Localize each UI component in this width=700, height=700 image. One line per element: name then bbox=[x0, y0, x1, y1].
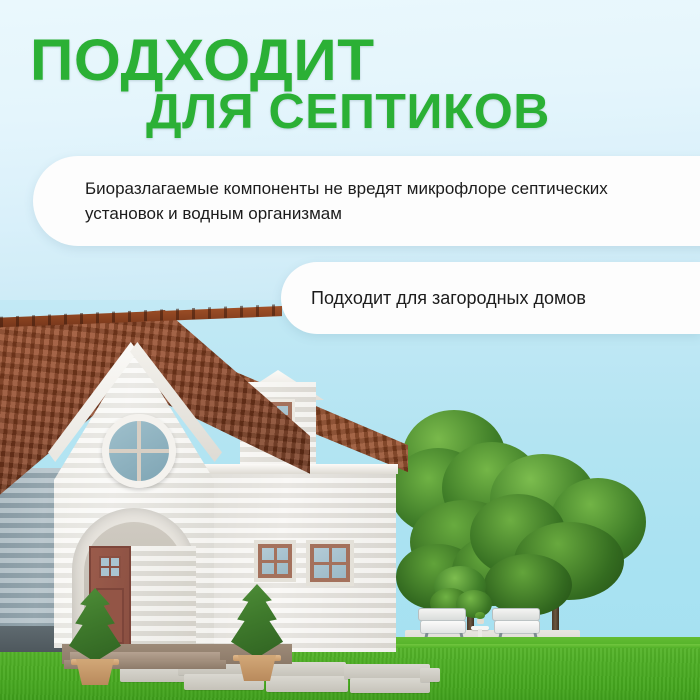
round-gable-window bbox=[102, 414, 176, 488]
poster-canvas: ПОДХОДИТ ДЛЯ СЕПТИКОВ Биоразлагаемые ком… bbox=[0, 0, 700, 700]
headline-line-1: ПОДХОДИТ bbox=[30, 32, 375, 90]
feature-bubble-country-homes-text: Подходит для загородных домов bbox=[311, 286, 586, 311]
potted-conifer-left bbox=[64, 588, 126, 684]
headline-line-2: ДЛЯ СЕПТИКОВ bbox=[146, 88, 550, 137]
feature-bubble-biodegradable: Биоразлагаемые компоненты не вредят микр… bbox=[33, 156, 700, 246]
house-window-left bbox=[258, 544, 292, 578]
potted-conifer-right bbox=[226, 584, 288, 680]
house bbox=[0, 296, 392, 656]
house-window-right bbox=[310, 544, 350, 582]
table-potted-plant bbox=[475, 612, 485, 624]
feature-bubble-country-homes: Подходит для загородных домов bbox=[281, 262, 700, 334]
front-door-window bbox=[99, 556, 121, 578]
feature-bubble-biodegradable-text: Биоразлагаемые компоненты не вредят микр… bbox=[85, 176, 680, 226]
